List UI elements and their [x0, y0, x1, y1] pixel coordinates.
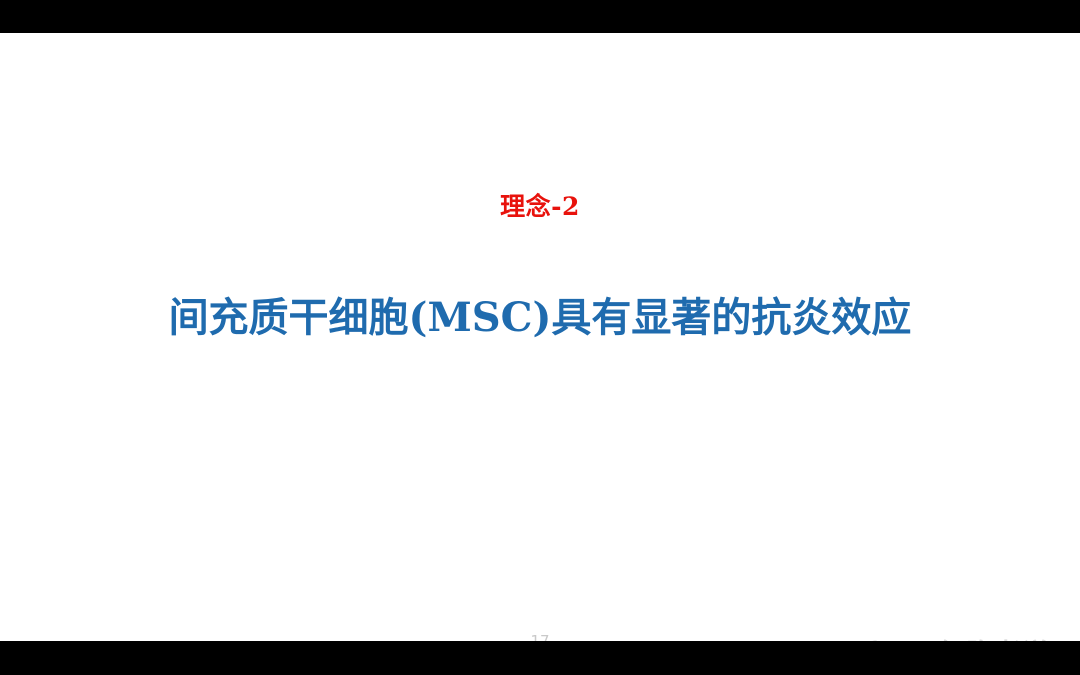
letterbox-bar-bottom: [0, 641, 1080, 675]
slide-title: 间充质干细胞(MSC)具有显著的抗炎效应: [0, 295, 1080, 341]
slide-eyebrow-label: 理念-2: [0, 193, 1080, 221]
slide-screen: 理念-2 间充质干细胞(MSC)具有显著的抗炎效应 17: [0, 0, 1080, 675]
letterbox-bar-top: [0, 0, 1080, 33]
slide-canvas: 理念-2 间充质干细胞(MSC)具有显著的抗炎效应 17: [0, 33, 1080, 641]
